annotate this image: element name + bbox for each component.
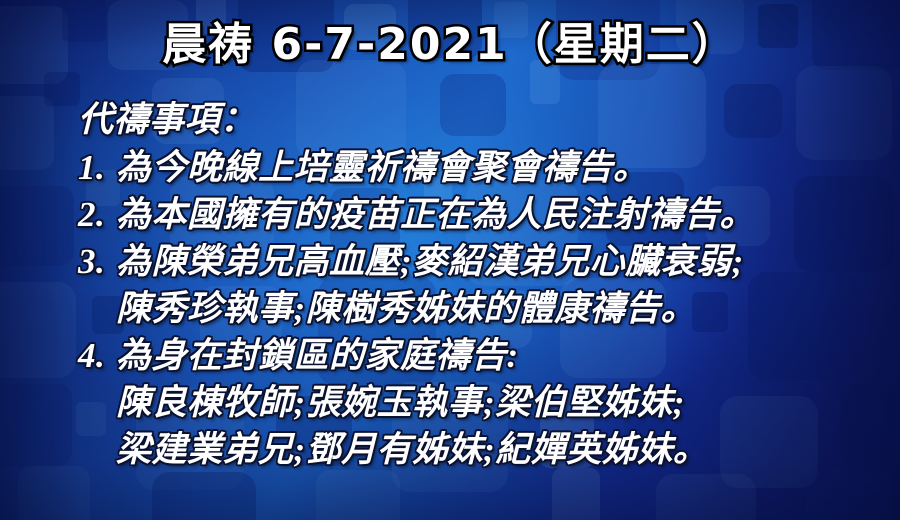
prayer-list-heading-text: 代禱事項：: [78, 96, 256, 143]
prayer-item-marker: 2.: [78, 191, 116, 238]
prayer-list-heading: 代禱事項：: [78, 96, 880, 143]
prayer-items-block: 代禱事項： 1. 為今晚線上培靈祈禱會聚會禱告。 2. 為本國擁有的疫苗正在為人…: [78, 96, 880, 473]
prayer-item-marker: 1.: [78, 144, 116, 191]
prayer-item: 3. 為陳榮弟兄高血壓;麥紹漢弟兄心臟衰弱;: [78, 238, 880, 285]
prayer-item: 1. 為今晚線上培靈祈禱會聚會禱告。: [78, 144, 880, 191]
prayer-item-text: 為身在封鎖區的家庭禱告:: [116, 332, 519, 379]
prayer-item: 4. 為身在封鎖區的家庭禱告:: [78, 332, 880, 379]
prayer-item-marker: 3.: [78, 238, 116, 285]
prayer-item-text: 為本國擁有的疫苗正在為人民注射禱告。: [116, 191, 755, 238]
prayer-item-text: 為今晚線上培靈祈禱會聚會禱告。: [116, 144, 649, 191]
prayer-slide: 晨祷 6-7-2021（星期二） 代禱事項： 1. 為今晚線上培靈祈禱會聚會禱告…: [0, 0, 900, 520]
prayer-item-marker: 4.: [78, 332, 116, 379]
prayer-item-continuation: 0. 陳秀珍執事;陳樹秀姊妹的體康禱告。: [78, 285, 880, 332]
prayer-item-continuation: 0. 梁建業弟兄;鄧月有姊妹;紀嬋英姊妹。: [78, 426, 880, 473]
prayer-item-text: 為陳榮弟兄高血壓;麥紹漢弟兄心臟衰弱;: [116, 238, 744, 285]
prayer-item-text: 陳秀珍執事;陳樹秀姊妹的體康禱告。: [116, 285, 696, 332]
prayer-item-text: 梁建業弟兄;鄧月有姊妹;紀嬋英姊妹。: [116, 426, 708, 473]
prayer-item-text: 陳良棟牧師;張婉玉執事;梁伯堅姊妹;: [116, 379, 685, 426]
slide-content: 晨祷 6-7-2021（星期二） 代禱事項： 1. 為今晚線上培靈祈禱會聚會禱告…: [0, 0, 900, 520]
prayer-item-continuation: 0. 陳良棟牧師;張婉玉執事;梁伯堅姊妹;: [78, 379, 880, 426]
slide-title: 晨祷 6-7-2021（星期二）: [0, 22, 900, 69]
prayer-item: 2. 為本國擁有的疫苗正在為人民注射禱告。: [78, 191, 880, 238]
